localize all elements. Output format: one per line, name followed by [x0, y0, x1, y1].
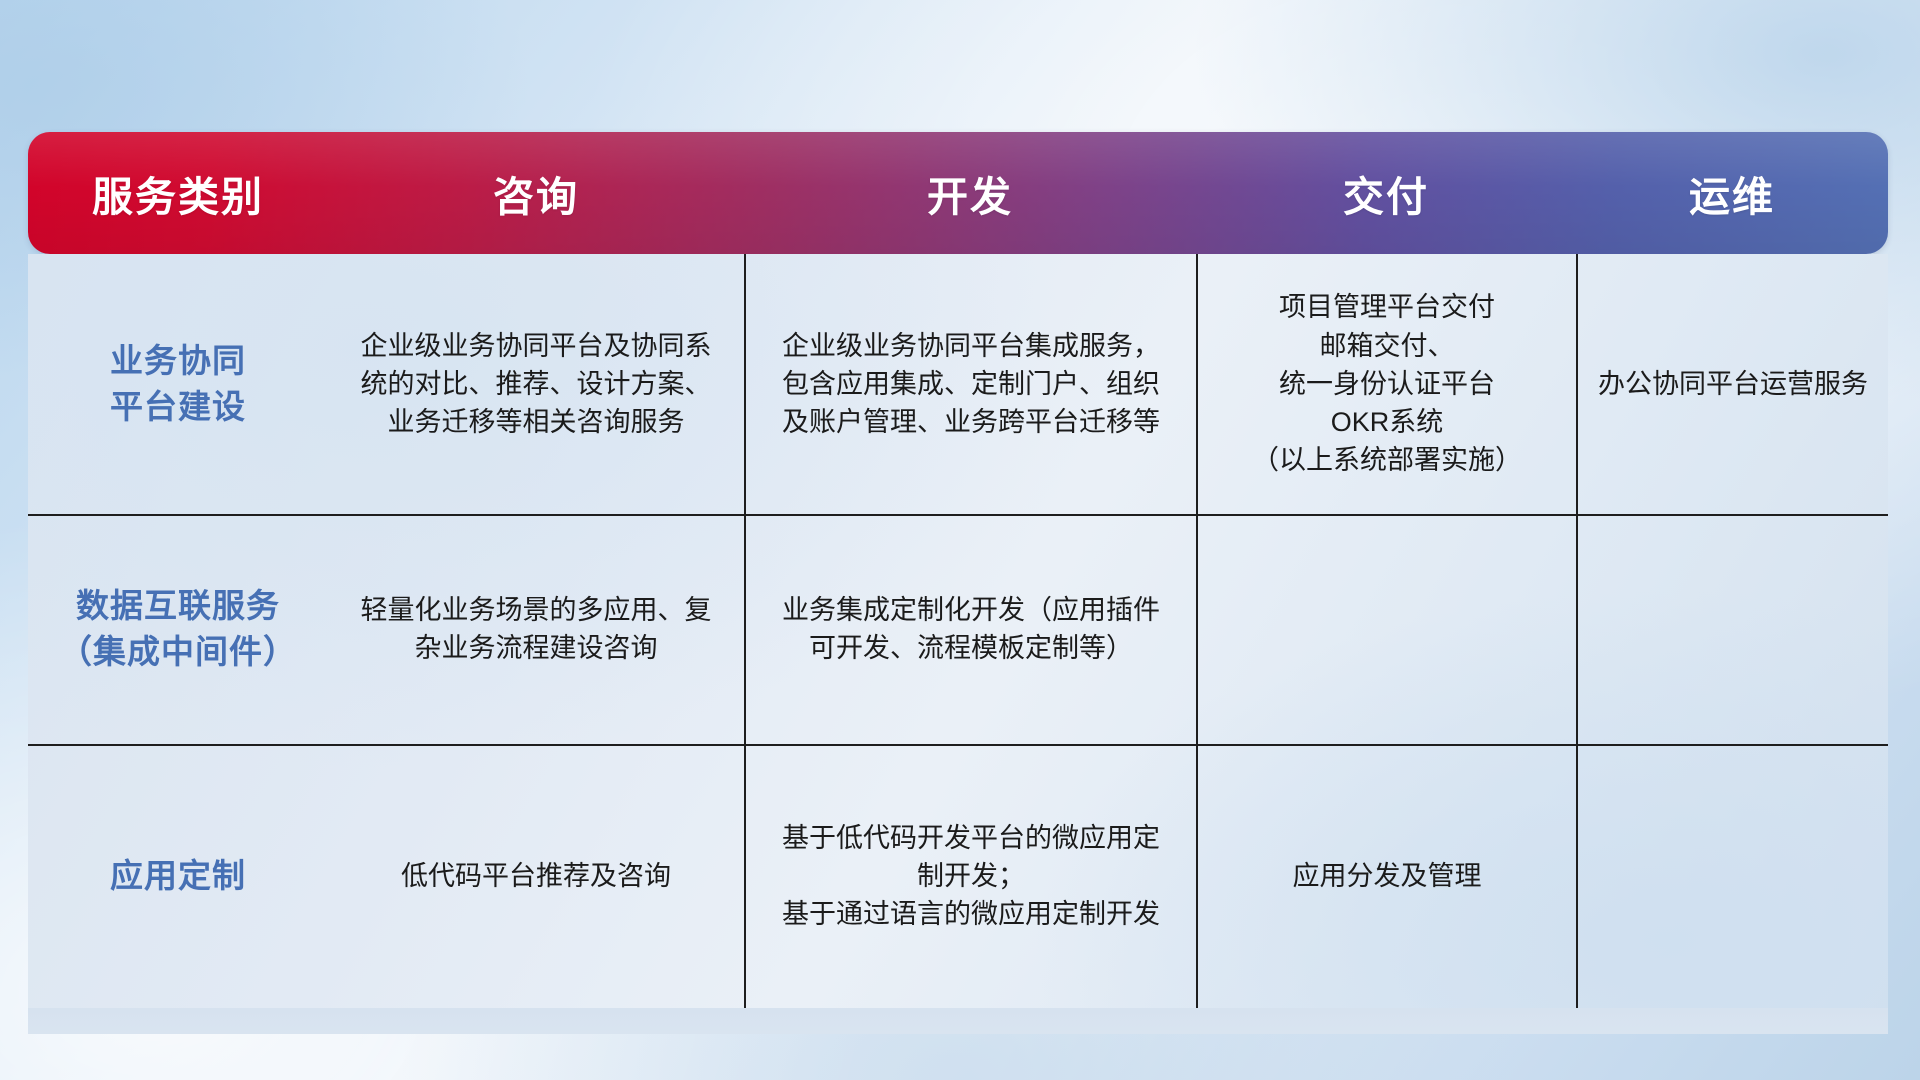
page-background: 服务类别 咨询 开发 交付 运维 业务协同 平台建设 企业级业务协同平台及协同系… [0, 0, 1920, 1080]
table-row: 业务协同 平台建设 企业级业务协同平台及协同系 统的对比、推荐、设计方案、 业务… [28, 254, 1888, 514]
table-header-operations: 运维 [1576, 163, 1888, 223]
row-category-label: 应用定制 [28, 744, 328, 1008]
table-body: 业务协同 平台建设 企业级业务协同平台及协同系 统的对比、推荐、设计方案、 业务… [28, 254, 1888, 1034]
row-category-label: 业务协同 平台建设 [28, 254, 328, 514]
cell-consulting: 企业级业务协同平台及协同系 统的对比、推荐、设计方案、 业务迁移等相关咨询服务 [328, 254, 744, 514]
table-header-delivery: 交付 [1196, 163, 1576, 223]
cell-development: 基于低代码开发平台的微应用定 制开发； 基于通过语言的微应用定制开发 [744, 744, 1196, 1008]
table-header-row: 服务类别 咨询 开发 交付 运维 [28, 132, 1888, 254]
cell-operations: 办公协同平台运营服务 [1576, 254, 1888, 514]
table-header-development: 开发 [744, 163, 1196, 223]
table-bottom-spacer [28, 1008, 1888, 1034]
cell-development: 企业级业务协同平台集成服务， 包含应用集成、定制门户、组织 及账户管理、业务跨平… [744, 254, 1196, 514]
row-category-label: 数据互联服务 （集成中间件） [28, 514, 328, 744]
table-row: 应用定制 低代码平台推荐及咨询 基于低代码开发平台的微应用定 制开发； 基于通过… [28, 744, 1888, 1008]
cell-delivery [1196, 514, 1576, 744]
cell-operations [1576, 514, 1888, 744]
cell-operations [1576, 744, 1888, 1008]
cell-consulting: 低代码平台推荐及咨询 [328, 744, 744, 1008]
cell-consulting: 轻量化业务场景的多应用、复 杂业务流程建设咨询 [328, 514, 744, 744]
service-matrix-table: 服务类别 咨询 开发 交付 运维 业务协同 平台建设 企业级业务协同平台及协同系… [28, 132, 1888, 1034]
table-row: 数据互联服务 （集成中间件） 轻量化业务场景的多应用、复 杂业务流程建设咨询 业… [28, 514, 1888, 744]
cell-delivery: 应用分发及管理 [1196, 744, 1576, 1008]
cell-delivery: 项目管理平台交付 邮箱交付、 统一身份认证平台 OKR系统 （以上系统部署实施） [1196, 254, 1576, 514]
cell-development: 业务集成定制化开发（应用插件 可开发、流程模板定制等） [744, 514, 1196, 744]
table-header-consulting: 咨询 [328, 163, 744, 223]
table-header-category: 服务类别 [28, 163, 328, 223]
